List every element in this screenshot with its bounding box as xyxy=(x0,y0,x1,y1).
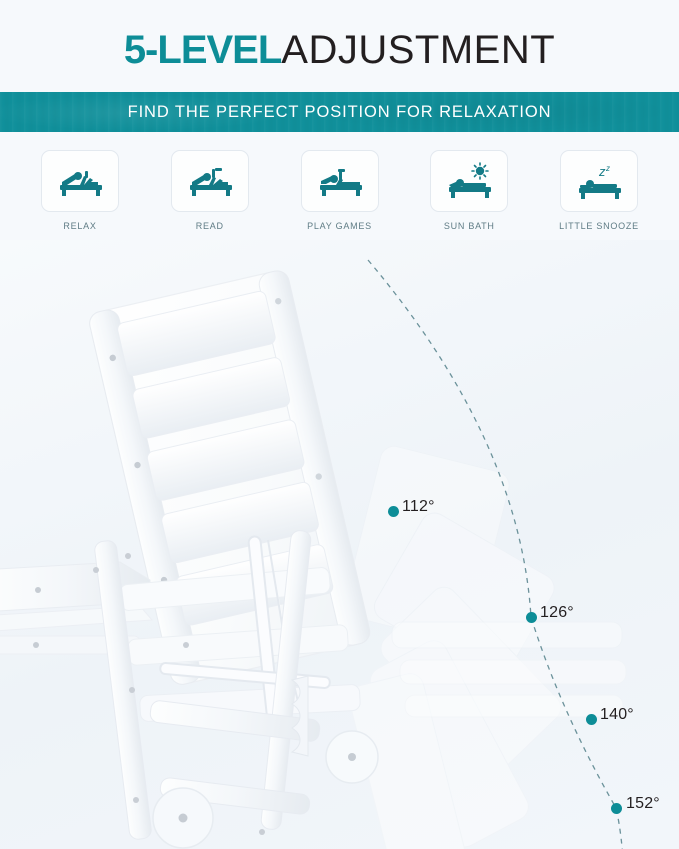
feature-label: LITTLE SNOOZE xyxy=(559,221,639,231)
angle-label-152: 152° xyxy=(626,795,660,813)
person-sunbathing-icon xyxy=(443,162,495,200)
angle-label-112: 112° xyxy=(402,498,435,516)
subtitle-banner-text: FIND THE PERFECT POSITION FOR RELAXATION xyxy=(128,103,552,122)
feature-item-sun-bath: SUN BATH xyxy=(429,150,509,231)
page-title: 5-LEVELADJUSTMENT xyxy=(0,28,679,73)
feature-icon-box: z z xyxy=(560,150,638,212)
angle-label-140: 140° xyxy=(600,706,634,724)
person-sleeping-icon: z z xyxy=(573,162,625,200)
svg-text:z: z xyxy=(605,164,610,173)
page-title-rest: ADJUSTMENT xyxy=(281,28,555,72)
feature-icon-box xyxy=(301,150,379,212)
feature-icon-box xyxy=(41,150,119,212)
subtitle-banner: FIND THE PERFECT POSITION FOR RELAXATION xyxy=(0,92,679,132)
feature-icon-box xyxy=(171,150,249,212)
feature-label: PLAY GAMES xyxy=(307,221,372,231)
person-gaming-icon xyxy=(314,163,366,199)
feature-item-little-snooze: z z LITTLE SNOOZE xyxy=(559,150,639,231)
angle-dot-126 xyxy=(526,612,537,623)
feature-item-play-games: PLAY GAMES xyxy=(300,150,380,231)
person-reclining-icon xyxy=(54,163,106,199)
angle-dot-112 xyxy=(388,506,399,517)
feature-label: READ xyxy=(196,221,224,231)
person-reading-icon xyxy=(184,163,236,199)
chaise-lounge-illustration xyxy=(0,240,679,849)
feature-item-read: READ xyxy=(170,150,250,231)
feature-icon-box xyxy=(430,150,508,212)
svg-text:z: z xyxy=(598,164,606,179)
feature-label: RELAX xyxy=(63,221,96,231)
feature-item-relax: RELAX xyxy=(40,150,120,231)
feature-icon-strip: RELAX xyxy=(40,150,639,231)
product-diagram: 112° 126° 140° 152° 180° xyxy=(0,240,679,849)
page-title-accent: 5-LEVEL xyxy=(124,28,281,72)
feature-label: SUN BATH xyxy=(444,221,495,231)
angle-dot-140 xyxy=(586,714,597,725)
angle-label-126: 126° xyxy=(540,604,574,622)
angle-dot-152 xyxy=(611,803,622,814)
